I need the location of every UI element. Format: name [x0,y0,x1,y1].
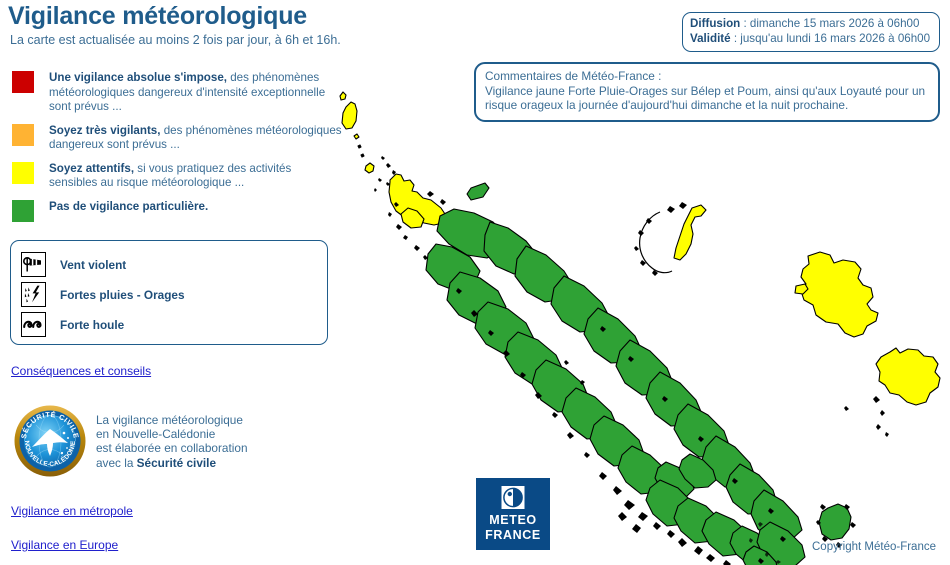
securite-civile-line4-prefix: avec la [96,456,137,470]
validite-line: Validité : jusqu'au lundi 16 mars 2026 à… [690,32,932,47]
phenomenon-row-wind: Vent violent [21,250,327,279]
securite-civile-line2: en Nouvelle-Calédonie [96,427,248,441]
legend-swatch-green [12,200,34,222]
diffusion-validity-box: Diffusion : dimanche 15 mars 2026 à 06h0… [682,12,940,52]
phenomenon-row-rain-storm: Fortes pluies - Orages [21,280,327,309]
securite-civile-line1: La vigilance météorologique [96,413,248,427]
phenomena-legend-box: Vent violent Fortes pluies - Orages Fort… [10,240,328,345]
link-vigilance-europe[interactable]: Vigilance en Europe [11,538,118,552]
rain-thunderstorm-icon [21,282,46,307]
legend-text-yellow: Soyez attentifs, si vous pratiquez des a… [49,161,342,191]
legend-swatch-orange [12,124,34,146]
link-consequences-et-conseils[interactable]: Conséquences et conseils [11,364,151,378]
diffusion-value: : dimanche 15 mars 2026 à 06h00 [740,17,919,30]
legend-strong-orange: Soyez très vigilants, [49,124,160,137]
legend-swatch-yellow [12,162,34,184]
phenomenon-row-swell: Forte houle [21,310,327,339]
securite-civile-text: La vigilance météorologique en Nouvelle-… [96,403,248,470]
map-region-Ouvea[interactable] [674,205,706,260]
legend-text-orange: Soyez très vigilants, des phénomènes mét… [49,123,342,153]
copyright-text: Copyright Météo-France [812,541,936,553]
legend-strong-yellow: Soyez attentifs, [49,162,134,175]
phenomenon-label-wind: Vent violent [60,258,126,272]
map-region-Ile-des-Pins[interactable] [819,504,851,540]
vigilance-level-legend: Une vigilance absolue s'impose, des phén… [12,70,342,230]
securite-civile-logo: SÉCURITÉ CIVILE NOUVELLE-CALÉDONIE [12,403,88,479]
meteo-france-logo-line2: FRANCE [476,528,550,543]
diffusion-line: Diffusion : dimanche 15 mars 2026 à 06h0… [690,17,932,32]
swell-wave-icon [21,312,46,337]
map-region-Belep-islet2[interactable] [358,145,361,148]
meteo-france-logo: METEO FRANCE [476,478,550,550]
meteo-france-logo-line1: METEO [476,513,550,528]
map-region-Belep-islet1[interactable] [354,134,359,139]
vigilance-map[interactable] [330,60,950,565]
phenomenon-label-rain-storm: Fortes pluies - Orages [60,288,185,302]
legend-text-red: Une vigilance absolue s'impose, des phén… [49,70,342,115]
validite-value: : jusqu'au lundi 16 mars 2026 à 06h00 [731,32,930,45]
legend-swatch-red [12,71,34,93]
legend-item-green: Pas de vigilance particulière. [12,199,342,222]
windsock-icon [21,252,46,277]
map-region-Mare[interactable] [876,348,940,405]
legend-item-red: Une vigilance absolue s'impose, des phén… [12,70,342,115]
securite-civile-line4: avec la Sécurité civile [96,456,248,470]
page-title: Vigilance météorologique [8,2,307,31]
link-vigilance-metropole[interactable]: Vigilance en métropole [11,504,133,518]
meteo-france-logo-mark [502,486,525,509]
validite-label: Validité [690,32,731,45]
map-region-Belep-main[interactable] [342,102,357,129]
map-region-Ouegoa-islet[interactable] [467,183,489,200]
map-region-Ile-Art[interactable] [365,163,374,173]
securite-civile-block: SÉCURITÉ CIVILE NOUVELLE-CALÉDONIE La vi… [12,403,302,479]
map-region-Lifou[interactable] [801,252,878,337]
legend-item-orange: Soyez très vigilants, des phénomènes mét… [12,123,342,153]
securite-civile-line4-strong: Sécurité civile [137,456,216,470]
legend-strong-red: Une vigilance absolue s'impose, [49,71,227,84]
map-svg [330,60,950,565]
map-region-Belep-islet3[interactable] [361,154,364,157]
map-region-Belep[interactable] [340,92,346,100]
securite-civile-line3: est élaborée en collaboration [96,441,248,455]
legend-text-green: Pas de vigilance particulière. [49,199,208,215]
legend-item-yellow: Soyez attentifs, si vous pratiquez des a… [12,161,342,191]
phenomenon-label-swell: Forte houle [60,318,124,332]
meteo-france-logo-text: METEO FRANCE [476,513,550,543]
legend-strong-green: Pas de vigilance particulière. [49,200,208,213]
diffusion-label: Diffusion [690,17,740,30]
page-subtitle: La carte est actualisée au moins 2 fois … [10,33,341,47]
